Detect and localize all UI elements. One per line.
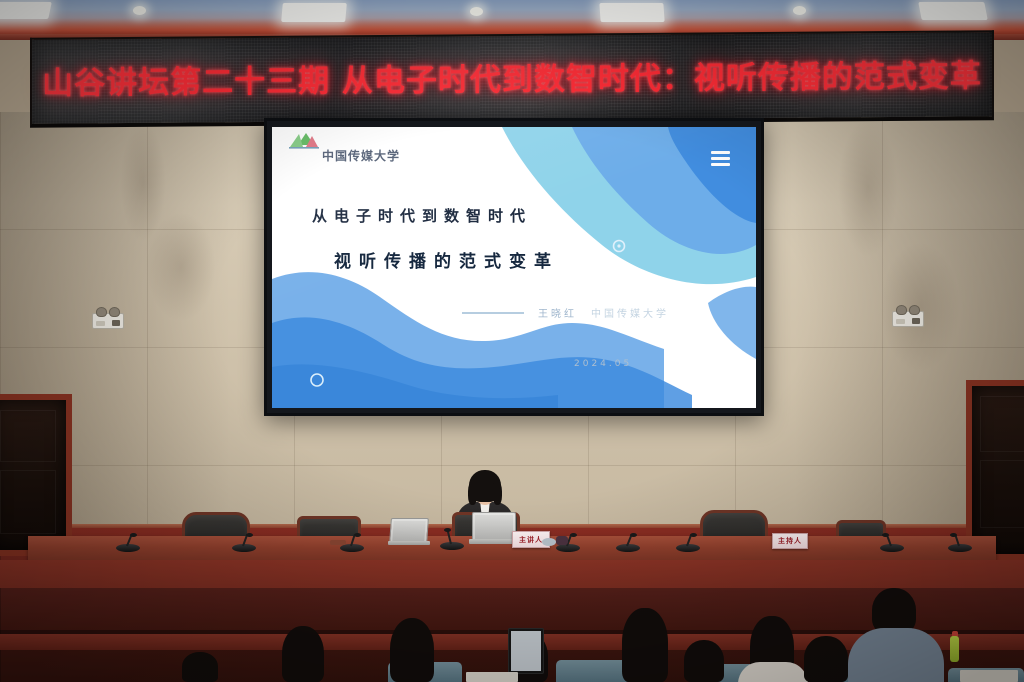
microphone-head — [354, 533, 361, 537]
slide-university-name: 中国传媒大学 — [322, 147, 400, 164]
name-card-speaker-label: 主讲人 — [519, 535, 543, 545]
ceiling-down-light — [470, 7, 483, 16]
laptop-screen — [475, 515, 513, 539]
ceiling-down-light — [133, 6, 146, 15]
audience-person — [176, 652, 224, 682]
ceiling-down-light — [793, 6, 806, 15]
byline-rule — [462, 312, 524, 314]
microphone-head — [130, 533, 137, 537]
name-card-host: 主持人 — [772, 533, 808, 549]
door-panel — [0, 470, 56, 534]
audience-person — [612, 608, 680, 682]
emergency-light — [92, 313, 124, 329]
emergency-light — [892, 311, 924, 327]
audience-hair — [804, 636, 848, 682]
audience-hair — [182, 652, 218, 682]
microphone-head — [246, 533, 253, 537]
emergency-light-lamp — [912, 318, 920, 324]
slide-title-line1: 从电子时代到数智时代 — [312, 205, 642, 226]
desk-item — [556, 536, 568, 545]
microphone-head — [950, 533, 957, 537]
ceiling-panel-light — [599, 3, 664, 22]
ceiling-panel-light — [0, 2, 52, 19]
emergency-light-lamp — [112, 320, 120, 326]
laptop-speaker[interactable] — [470, 512, 518, 546]
door-panel — [0, 410, 56, 462]
projection-screen: 中国传媒大学 从电子时代到数智时代 视听传播的范式变革 王晓红 中国传媒大学 2… — [264, 118, 764, 416]
microphone-head — [690, 533, 697, 537]
slide-speaker-name: 王晓红 — [538, 305, 577, 320]
ceiling-panel-light — [918, 2, 987, 20]
led-banner-text: 山谷讲坛第二十三期 从电子时代到数智时代：视听传播的范式变革 — [42, 50, 982, 102]
slide-date: 2024.05 — [574, 359, 632, 369]
microphone-head — [444, 528, 451, 532]
audience-person — [848, 588, 944, 682]
audience-tablet[interactable] — [508, 628, 544, 674]
microphone-head — [630, 533, 637, 537]
side-door-right[interactable] — [966, 380, 1024, 560]
speaker-hair-side — [493, 482, 502, 505]
speaker-hair-side — [468, 482, 477, 505]
emergency-light-lamp — [96, 321, 105, 326]
presentation-slide: 中国传媒大学 从电子时代到数智时代 视听传播的范式变革 王晓红 中国传媒大学 2… — [272, 127, 756, 408]
laptop-screen — [392, 521, 425, 541]
audience-hair — [282, 626, 324, 682]
audience-paper — [960, 670, 1018, 682]
audience-person — [676, 640, 732, 682]
bottle-body — [950, 636, 959, 662]
desk-item — [330, 540, 346, 545]
microphone-head — [882, 533, 889, 537]
desk-item — [542, 538, 556, 546]
audience-hair — [622, 608, 668, 682]
microphone-head — [570, 533, 577, 537]
audience-shoulders — [848, 628, 944, 682]
audience-person — [382, 618, 444, 682]
lecture-hall-photo: 山谷讲坛第二十三期 从电子时代到数智时代：视听传播的范式变革 — [0, 0, 1024, 682]
audience-hair — [390, 618, 434, 682]
laptop-base — [388, 541, 430, 545]
slide-byline: 王晓红 中国传媒大学 — [462, 305, 669, 320]
emergency-light-lamp — [896, 319, 905, 324]
slide-speaker-affiliation: 中国传媒大学 — [591, 305, 669, 320]
audience-paper — [466, 672, 518, 682]
audience-hair — [684, 640, 724, 682]
side-door-left[interactable] — [0, 394, 72, 556]
laptop-left[interactable] — [390, 518, 430, 546]
hamburger-menu-icon[interactable] — [711, 151, 730, 169]
laptop-lid — [472, 512, 516, 542]
name-card-host-label: 主持人 — [778, 536, 802, 546]
audience-person — [272, 626, 334, 682]
door-panel — [980, 396, 1024, 452]
ceiling-panel-light — [281, 3, 347, 22]
tablet-screen — [511, 631, 541, 671]
door-panel — [980, 460, 1024, 528]
led-banner: 山谷讲坛第二十三期 从电子时代到数智时代：视听传播的范式变革 — [30, 30, 994, 128]
slide-title-line2: 视听传播的范式变革 — [334, 247, 664, 272]
